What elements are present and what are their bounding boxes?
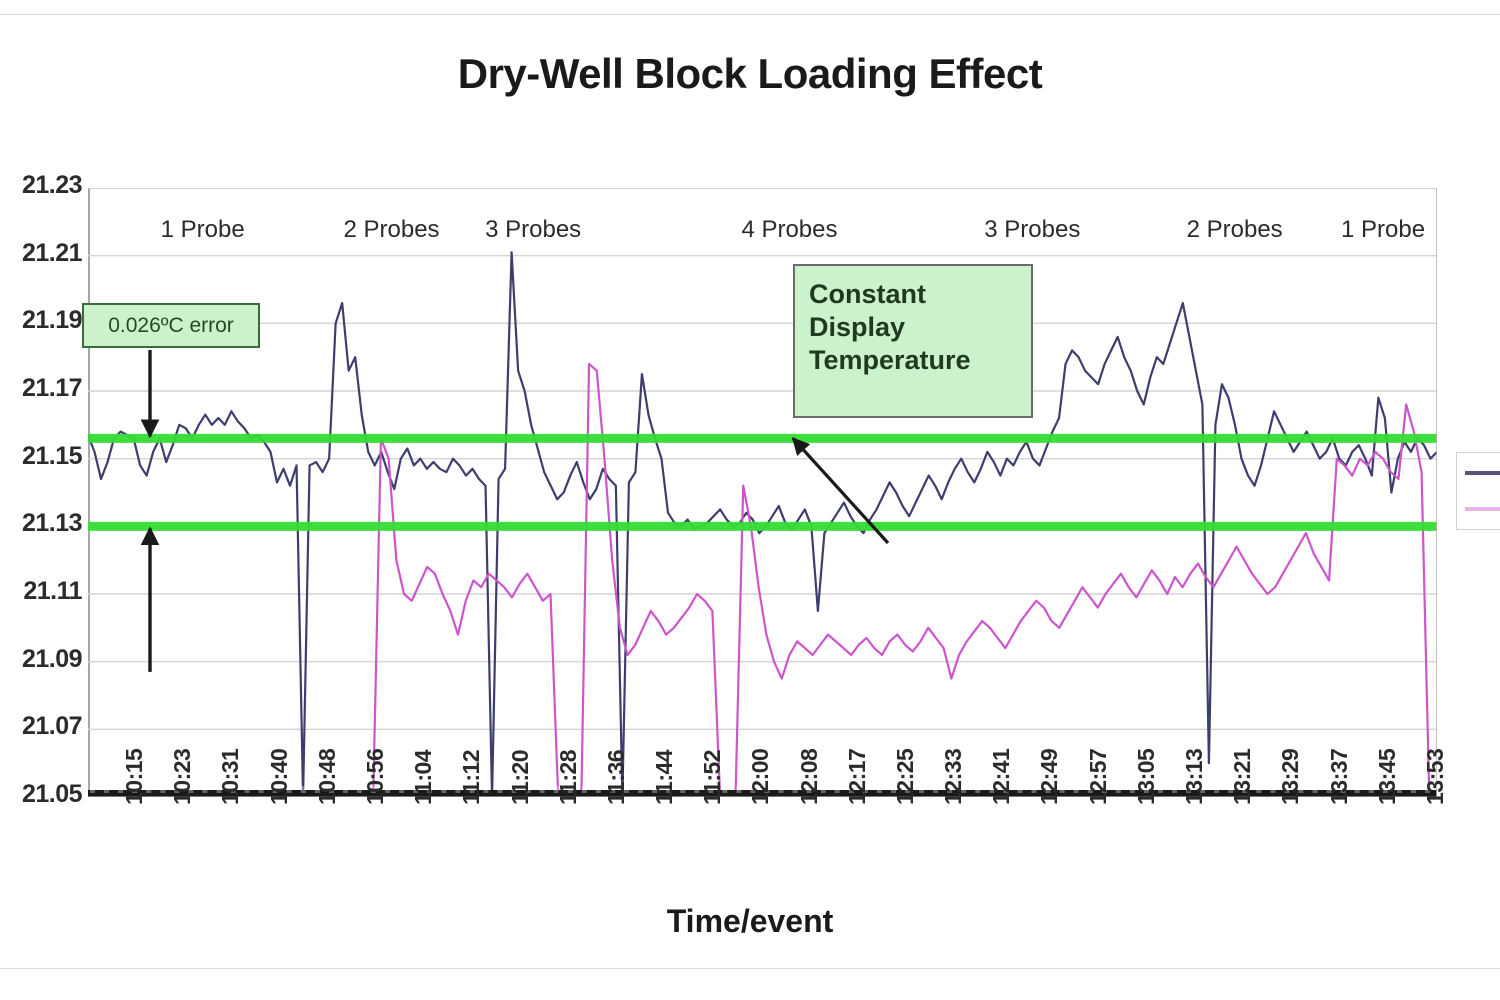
x-axis-title: Time/event [0,903,1500,940]
x-axis-tick-label: 10:15 [121,749,148,805]
x-axis-tick-label: 11:12 [458,750,485,805]
x-axis-tick-label: 12:08 [796,749,823,805]
probe-count-label: 1 Probe [133,216,273,244]
x-axis-tick-label: 10:31 [217,749,244,805]
x-axis-tick-label: 10:40 [266,749,293,805]
probe-count-label: 3 Probes [962,216,1102,244]
probe-count-label: 2 Probes [322,216,462,244]
x-axis-tick-label: 13:37 [1326,749,1353,805]
x-axis-tick-labels: 10:1510:2310:3110:4010:4810:5611:0411:12… [0,0,1500,1000]
probe-count-label: 2 Probes [1165,216,1305,244]
probe-count-label: 4 Probes [719,216,859,244]
x-axis-tick-label: 12:57 [1085,749,1112,805]
x-axis-tick-label: 12:33 [940,749,967,805]
x-axis-tick-label: 10:48 [314,749,341,805]
constant-display-temperature-callout: Constant Display Temperature [793,264,1033,418]
x-axis-tick-label: 10:56 [362,749,389,805]
error-annotation-box: 0.026ºC error [82,303,260,348]
x-axis-tick-label: 11:04 [410,750,437,805]
x-axis-tick-label: 12:00 [747,749,774,805]
probe-count-label: 3 Probes [463,216,603,244]
x-axis-tick-label: 11:20 [507,750,534,805]
x-axis-tick-label: 13:13 [1181,749,1208,805]
x-axis-tick-label: 12:49 [1036,749,1063,805]
x-axis-tick-label: 12:41 [988,749,1015,805]
callout-line-3: Temperature [809,344,1031,377]
x-axis-tick-label: 12:25 [892,749,919,805]
x-axis-tick-label: 13:21 [1229,749,1256,805]
x-axis-tick-label: 13:05 [1133,749,1160,805]
series-1-swatch [1465,471,1500,475]
x-axis-tick-label: 11:52 [699,750,726,805]
chart-page: Dry-Well Block Loading Effect 21.2321.21… [0,0,1500,1000]
x-axis-tick-label: 10:23 [169,749,196,805]
x-axis-tick-label: 11:44 [651,750,678,805]
x-axis-tick-label: 13:29 [1277,749,1304,805]
x-axis-tick-label: 11:36 [603,750,630,805]
error-annotation-text: 0.026ºC error [108,314,234,338]
x-axis-tick-label: 11:28 [555,750,582,805]
callout-line-2: Display [809,311,1031,344]
series-2-swatch [1465,507,1500,511]
callout-line-1: Constant [809,278,1031,311]
x-axis-tick-label: 13:53 [1422,749,1449,805]
x-axis-tick-label: 13:45 [1374,749,1401,805]
probe-count-label: 1 Probe [1313,216,1453,244]
chart-legend [1456,452,1500,530]
x-axis-tick-label: 12:17 [844,749,871,805]
